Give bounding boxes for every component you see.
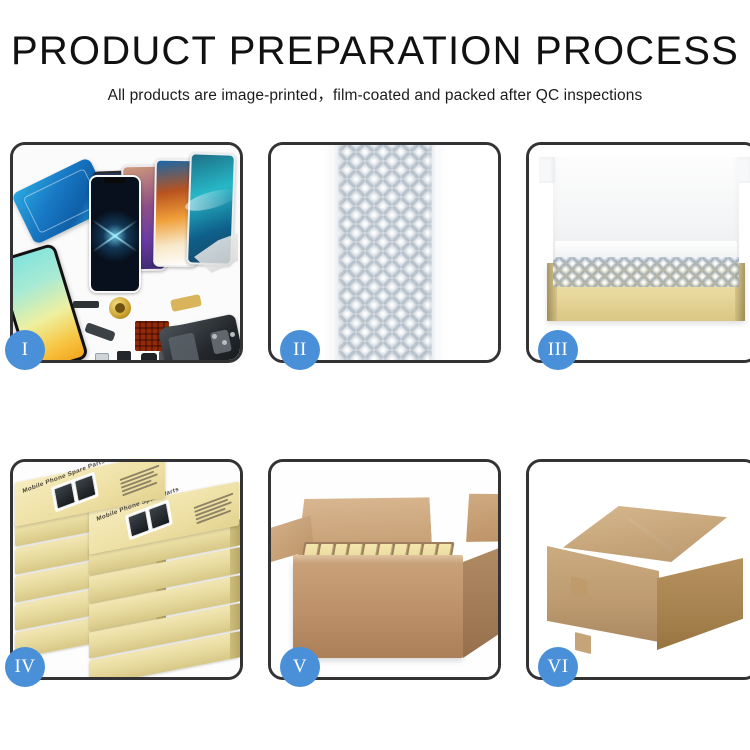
part-chip-two xyxy=(141,353,157,360)
box-spec-lines-right xyxy=(194,493,237,527)
step-panel-bubble-wrap: II xyxy=(268,142,501,363)
screws-group xyxy=(212,332,236,350)
carton-side-face xyxy=(463,548,498,658)
page-subtitle: All products are image-printed，film-coat… xyxy=(0,83,750,105)
step-image-products-and-parts xyxy=(13,145,240,360)
step-image-stacked-retail-boxes: Mobile Phone Spare Parts Mobile Phone Sp… xyxy=(13,462,240,677)
step-image-inner-box-packing xyxy=(529,145,750,360)
step-badge-4: IV xyxy=(5,647,45,687)
part-gold-coil xyxy=(109,297,131,319)
carton-front-face xyxy=(547,546,659,642)
carton-rim xyxy=(293,555,463,564)
carton-top-face xyxy=(563,506,727,562)
product-preparation-infographic: PRODUCT PREPARATION PROCESS All products… xyxy=(0,0,750,750)
step-badge-3: III xyxy=(538,330,578,370)
step-badge-2: II xyxy=(280,330,320,370)
step-panel-inner-box-packing: III xyxy=(526,142,750,363)
header: PRODUCT PREPARATION PROCESS All products… xyxy=(0,0,750,105)
box-spec-lines-left xyxy=(120,465,163,499)
wrap-edge-right xyxy=(429,145,438,360)
part-flex-cable-dark xyxy=(84,322,116,342)
part-chip-one xyxy=(117,351,131,360)
part-flex-cable-gold xyxy=(170,294,202,312)
process-steps-grid: I II III xyxy=(10,142,740,740)
part-camera-module xyxy=(95,353,109,360)
open-carton-body xyxy=(293,562,463,658)
step-image-carton-filling xyxy=(271,462,498,677)
step-badge-1: I xyxy=(5,330,45,370)
step-image-bubble-wrap xyxy=(271,145,498,360)
bubble-pattern xyxy=(338,145,432,360)
step-panel-products-and-parts: I xyxy=(10,142,243,363)
wrap-edge-left xyxy=(332,145,341,360)
carton-right-face xyxy=(657,558,743,650)
step-panel-sealed-carton: VI xyxy=(526,459,750,680)
bubble-wrap-sheet xyxy=(332,145,438,360)
step-image-sealed-carton xyxy=(529,462,750,677)
phone-black-glass xyxy=(89,175,141,293)
page-title: PRODUCT PREPARATION PROCESS xyxy=(0,30,750,72)
part-black-bar xyxy=(73,301,99,308)
carton-flap-right xyxy=(462,486,498,550)
step-badge-5: V xyxy=(280,647,320,687)
carton-tape-tab-bottom xyxy=(575,632,591,654)
retail-box-stack: Mobile Phone Spare Parts Mobile Phone Sp… xyxy=(15,472,240,677)
screen-burst-graphic xyxy=(91,206,139,266)
carton-tape-tab-top xyxy=(571,576,587,598)
step-badge-6: VI xyxy=(538,647,578,687)
bubble-wrapped-contents xyxy=(553,257,739,287)
sealed-carton xyxy=(547,506,743,642)
phone-notch xyxy=(104,178,126,183)
step-panel-carton-filling: V xyxy=(268,459,501,680)
step-panel-stacked-retail-boxes: Mobile Phone Spare Parts Mobile Phone Sp… xyxy=(10,459,243,680)
